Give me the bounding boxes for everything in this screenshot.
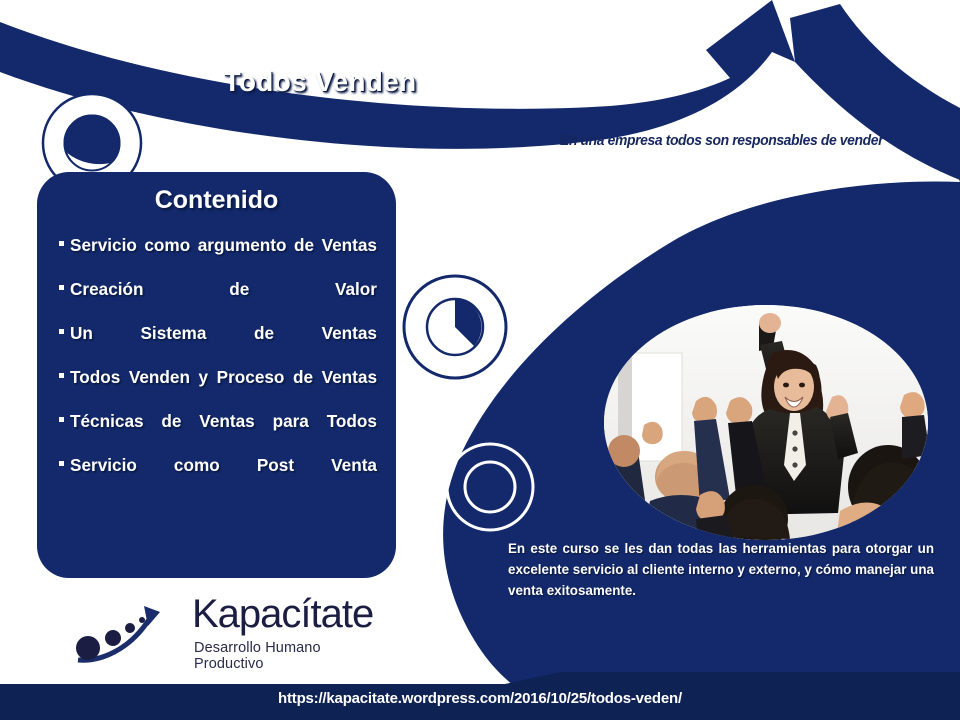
source-url[interactable]: https://kapacitate.wordpress.com/2016/10… (0, 690, 960, 707)
list-item: Técnicas de Ventas para Todos (59, 410, 377, 454)
bullet-square-icon (59, 241, 64, 246)
list-item-label: Técnicas de Ventas para Todos (70, 411, 377, 431)
list-item: Creación de Valor (59, 278, 377, 322)
bullet-square-icon (59, 329, 64, 334)
page-title: Todos Venden (150, 66, 490, 98)
contenido-card: Contenido Servicio como argumento de Ven… (37, 172, 396, 578)
list-item: Todos Venden y Proceso de Ventas (59, 366, 377, 410)
contenido-heading: Contenido (37, 186, 396, 215)
bullet-square-icon (59, 373, 64, 378)
list-item-label: Un Sistema de Ventas (70, 323, 377, 343)
ring-wedge-icon (404, 276, 506, 378)
logo-wordmark: Kapacítate (192, 592, 373, 637)
photo-illustration (604, 305, 928, 540)
list-item: Un Sistema de Ventas (59, 322, 377, 366)
list-item-label: Servicio como Post Venta (70, 455, 377, 475)
bullet-square-icon (59, 285, 64, 290)
list-item-label: Creación de Valor (70, 279, 377, 299)
bullet-square-icon (59, 461, 64, 466)
arc-right-band (790, 4, 960, 180)
contenido-bullet-list: Servicio como argumento de Ventas Creaci… (59, 234, 377, 498)
list-item-label: Todos Venden y Proceso de Ventas (70, 367, 377, 387)
course-description: En este curso se les dan todas las herra… (508, 538, 934, 601)
slide-canvas: Todos Venden En una empresa todos son re… (0, 0, 960, 720)
ascending-arrow-dots-icon (72, 598, 192, 670)
bullet-square-icon (59, 417, 64, 422)
list-item: Servicio como argumento de Ventas (59, 234, 377, 278)
logo-tagline: Desarrollo Humano Productivo (194, 640, 340, 672)
list-item-label: Servicio como argumento de Ventas (70, 235, 377, 255)
tagline-text: En una empresa todos son responsables de… (520, 133, 923, 149)
list-item: Servicio como Post Venta (59, 454, 377, 498)
kapacitate-logo: Kapacítate Desarrollo Humano Productivo (72, 596, 340, 668)
celebration-photo (604, 305, 928, 540)
